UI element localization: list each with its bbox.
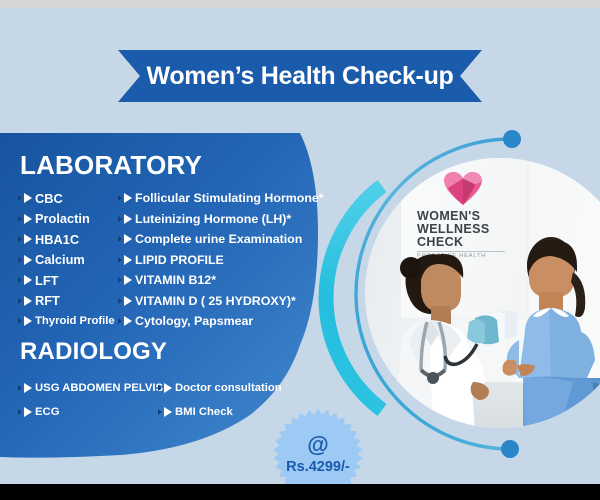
list-item-label: LFT <box>35 273 58 288</box>
list-item-label: Prolactin <box>35 211 90 226</box>
bottom-bar <box>0 484 600 500</box>
ring-dot-bottom <box>501 440 519 458</box>
arrow-bullet-icon <box>18 213 35 225</box>
clinic-photo: WOMEN'S WELLNESS CHECK PROACTIVE HEALTH <box>365 158 600 428</box>
arrow-bullet-icon <box>118 274 135 286</box>
list-item: BMI Check <box>158 400 282 424</box>
list-item: Follicular Stimulating Hormone* <box>118 188 324 209</box>
arrow-bullet-icon <box>18 233 35 245</box>
list-item-label: Complete urine Examination <box>135 232 302 246</box>
list-item-label: USG ABDOMEN PELVIS <box>35 382 163 394</box>
list-item: VITAMIN D ( 25 HYDROXY)* <box>118 291 324 312</box>
list-item-label: CBC <box>35 191 63 206</box>
arrow-bullet-icon <box>158 382 175 394</box>
price-amount: Rs.4299/- <box>286 460 350 475</box>
list-item-label: Cytology, Papsmear <box>135 314 253 328</box>
arrow-bullet-icon <box>18 315 35 327</box>
list-item-label: Thyroid Profile <box>35 315 115 327</box>
list-item: Calcium <box>18 250 115 271</box>
radiology-list-column-2: Doctor consultation BMI Check <box>158 376 282 424</box>
poster-canvas: Women’s Health Check-up <box>0 8 600 484</box>
list-item-label: Doctor consultation <box>175 382 282 394</box>
list-item: Doctor consultation <box>158 376 282 400</box>
list-item: Complete urine Examination <box>118 229 324 250</box>
list-item-label: BMI Check <box>175 406 233 418</box>
ring-dot-top <box>503 130 521 148</box>
arrow-bullet-icon <box>118 295 135 307</box>
list-item-label: HBA1C <box>35 232 79 247</box>
radiology-title: RADIOLOGY <box>20 338 167 366</box>
advertisement-page: Women’s Health Check-up <box>0 0 600 500</box>
top-rule <box>0 0 600 8</box>
list-item-label: Luteinizing Hormone (LH)* <box>135 212 291 226</box>
arrow-bullet-icon <box>118 213 135 225</box>
photo-circle: WOMEN'S WELLNESS CHECK PROACTIVE HEALTH <box>365 158 600 428</box>
list-item: RFT <box>18 291 115 312</box>
list-item-label: RFT <box>35 293 60 308</box>
laboratory-list-column-1: CBC Prolactin HBA1C Calcium LFT RFT Thyr… <box>18 188 115 332</box>
list-item-label: Follicular Stimulating Hormone* <box>135 191 324 205</box>
arrow-bullet-icon <box>158 406 175 418</box>
list-item: HBA1C <box>18 229 115 250</box>
price-badge-text: @ Rs.4299/- <box>272 408 364 484</box>
list-item: Luteinizing Hormone (LH)* <box>118 209 324 230</box>
list-item: USG ABDOMEN PELVIS <box>18 376 163 400</box>
list-item-label: LIPID PROFILE <box>135 253 224 267</box>
list-item: VITAMIN B12* <box>118 270 324 291</box>
list-item-label: ECG <box>35 406 59 418</box>
arrow-bullet-icon <box>118 315 135 327</box>
arrow-bullet-icon <box>18 192 35 204</box>
arrow-bullet-icon <box>18 295 35 307</box>
arrow-bullet-icon <box>18 406 35 418</box>
list-item-label: VITAMIN B12* <box>135 273 216 287</box>
arrow-bullet-icon <box>118 233 135 245</box>
arrow-bullet-icon <box>118 254 135 266</box>
list-item: CBC <box>18 188 115 209</box>
list-item: Thyroid Profile <box>18 311 115 332</box>
arrow-bullet-icon <box>18 274 35 286</box>
list-item-label: VITAMIN D ( 25 HYDROXY)* <box>135 294 296 308</box>
arrow-bullet-icon <box>118 192 135 204</box>
laboratory-title: LABORATORY <box>20 150 202 181</box>
list-item: LFT <box>18 270 115 291</box>
arrow-bullet-icon <box>18 382 35 394</box>
list-item: LIPID PROFILE <box>118 250 324 271</box>
list-item-label: Calcium <box>35 252 85 267</box>
radiology-list-column-1: USG ABDOMEN PELVIS ECG <box>18 376 163 424</box>
list-item: ECG <box>18 400 163 424</box>
list-item: Prolactin <box>18 209 115 230</box>
list-item: Cytology, Papsmear <box>118 311 324 332</box>
page-title: Women’s Health Check-up <box>118 50 482 102</box>
arrow-bullet-icon <box>18 254 35 266</box>
blood-pressure-cuff <box>365 158 600 428</box>
laboratory-list-column-2: Follicular Stimulating Hormone* Luteiniz… <box>118 188 324 332</box>
at-symbol: @ <box>307 434 328 456</box>
